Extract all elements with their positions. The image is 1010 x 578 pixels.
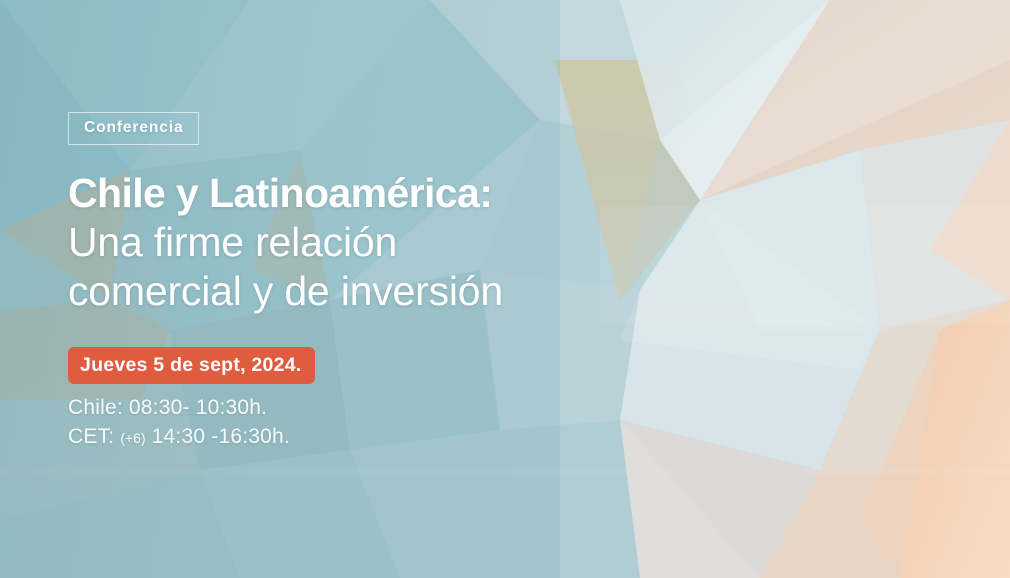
time-line-cet: CET: (+6) 14:30 -16:30h. <box>68 423 668 452</box>
headline-line-1: Chile y Latinoamérica: <box>68 169 668 218</box>
conference-banner: Conferencia Chile y Latinoamérica: Una f… <box>0 0 1010 578</box>
headline-line-2: Una firme relación <box>68 218 668 267</box>
schedule-times: Chile: 08:30- 10:30h. CET: (+6) 14:30 -1… <box>68 394 668 451</box>
headline-line-3: comercial y de inversión <box>68 267 668 316</box>
page-title: Chile y Latinoamérica: Una firme relació… <box>68 169 668 317</box>
banner-content: Conferencia Chile y Latinoamérica: Una f… <box>68 0 668 578</box>
time-cet-offset: (+6) <box>120 430 145 446</box>
time-line-chile: Chile: 08:30- 10:30h. <box>68 394 668 423</box>
eyebrow-badge: Conferencia <box>68 112 199 145</box>
date-badge: Jueves 5 de sept, 2024. <box>68 347 315 384</box>
time-cet-prefix: CET: <box>68 425 120 448</box>
time-cet-suffix: 14:30 -16:30h. <box>146 425 290 448</box>
